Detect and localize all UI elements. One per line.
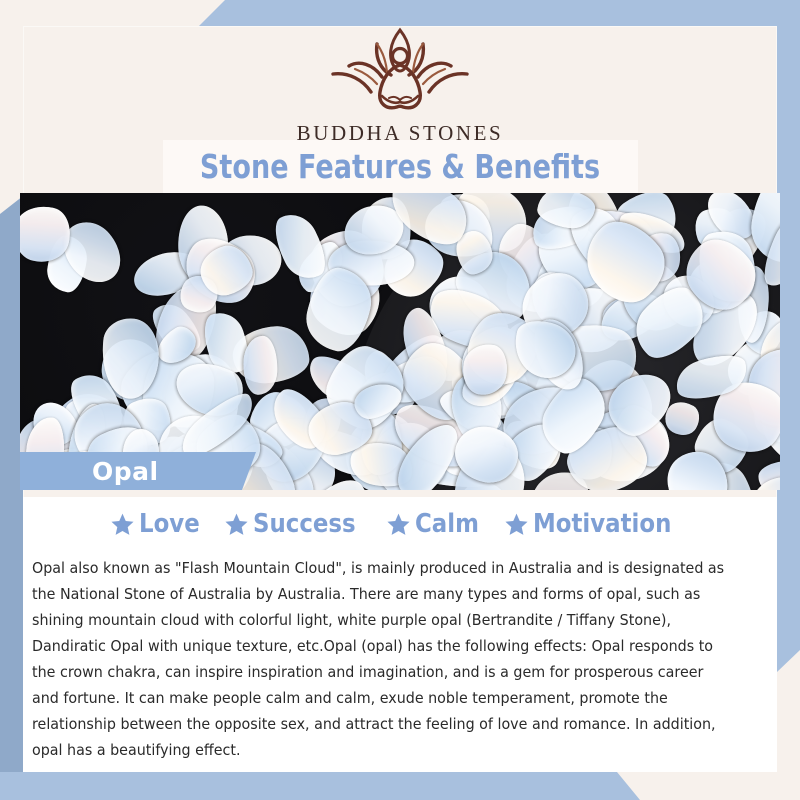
- benefits-row: LoveSuccessCalmMotivation: [23, 509, 777, 539]
- title-band: Stone Features & Benefits: [163, 140, 638, 193]
- product-label: Opal: [92, 457, 159, 486]
- frame-accent-bottom: [0, 772, 640, 800]
- star-icon: [224, 512, 249, 537]
- lotus-meditation-icon: [325, 22, 475, 118]
- content-area: LoveSuccessCalmMotivation Opal also know…: [23, 497, 777, 772]
- infographic-page: BUDDHA STONES Stone Features & Benefits …: [0, 0, 800, 800]
- benefit-label: Love: [139, 509, 200, 539]
- product-photo: [20, 193, 780, 490]
- description-text: Opal also known as "Flash Mountain Cloud…: [32, 555, 731, 763]
- benefit-label: Motivation: [533, 509, 671, 539]
- opal-stones-cluster: [20, 193, 780, 490]
- star-icon: [504, 512, 529, 537]
- benefit-item-calm: Calm: [386, 509, 488, 539]
- brand-logo: BUDDHA STONES: [0, 22, 800, 146]
- opal-stone: [242, 335, 278, 395]
- star-icon: [110, 512, 135, 537]
- benefit-item-love: Love: [110, 509, 208, 539]
- benefit-label: Success: [253, 509, 356, 539]
- benefit-item-motivation: Motivation: [504, 509, 690, 539]
- product-label-bar: Opal: [20, 452, 256, 490]
- page-title: Stone Features & Benefits: [200, 147, 600, 186]
- star-icon: [386, 512, 411, 537]
- benefit-label: Calm: [415, 509, 479, 539]
- benefit-item-success: Success: [224, 509, 370, 539]
